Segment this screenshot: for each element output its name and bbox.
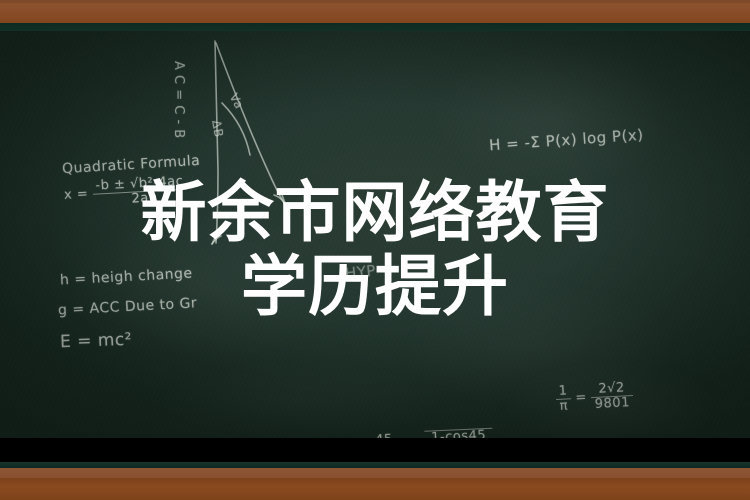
chalk-note-height-change: h = heigh change [60,266,193,289]
chalk-pi-rhs-numerator: 2√2 [591,381,633,398]
chalk-tan-radicand: 1-cos45 1+cos45 [425,429,493,438]
chalk-smudge [430,41,680,191]
chalk-note-entropy: H = -Σ P(x) log P(x) [489,126,645,155]
chalk-quadratic-fraction: -b ± √b²-4ac 2a [92,175,187,208]
triangle-diagram-icon [0,31,750,438]
chalk-smudge [150,361,450,438]
chalk-tan-fraction: 45 2 [372,433,397,438]
chalk-pi-rhs-fraction: 2√2 9801 [591,381,634,411]
chalk-pi-lhs-numerator: 1 [555,384,571,399]
frame-bottom-wood [0,478,750,500]
chalk-note-triangle-side-c: A C = C - B [171,61,186,139]
chalk-smudge [60,211,360,361]
chalk-quadratic-numerator: -b ± √b²-4ac [92,175,187,195]
chalk-note-ramanujan-series: ∞ Σ k=0 (4k)!(110)+26390k (k!)⁴396⁴ᵏ tan… [59,430,335,438]
chalk-smudge [500,361,720,438]
chalk-pi-equals: = [575,390,587,406]
frame-top-highlight [0,0,750,3]
chalk-note-triangle-label-b: ΔB [209,119,226,139]
chalk-note-gravity: g = ACC Due to Gr [58,295,198,318]
chalk-quadratic-denominator: 2a [93,189,188,208]
chalk-note-tan-half-angle: tan 45 2 = √ 1-cos45 1+cos45 [344,428,493,438]
chalk-tan-numerator: 45 [372,433,396,438]
chalk-note-mass-energy: E = mc² [60,330,133,353]
board-lip-top [0,23,750,31]
chalk-note-quadratic-equation: x = -b ± √b²-4ac 2a [63,175,187,210]
chalk-note-quadratic-label: Quadratic Formula [62,153,201,177]
frame-top-wood [0,0,750,23]
chalk-pi-lhs-denominator: π [556,399,571,413]
chalk-note-hypotenuse: HYP [344,261,377,282]
chalkboard-banner: Quadratic Formula x = -b ± √b²-4ac 2a h … [0,0,750,500]
chalk-note-triangle-label-a: Va [227,91,247,111]
chalk-pi-rhs-denominator: 9801 [591,396,633,412]
chalk-smudge [400,281,680,411]
frame-bottom-ledge [0,468,750,478]
chalk-quadratic-lhs: x = [64,187,89,203]
board-vignette [0,31,750,438]
board-texture [0,31,750,438]
chalk-tan-rad-numerator: 1-cos45 [425,429,493,438]
chalk-note-pi-identity: 1 π = 2√2 9801 [555,381,633,413]
chalk-pi-lhs-fraction: 1 π [555,384,571,413]
chalkboard-surface: Quadratic Formula x = -b ± √b²-4ac 2a h … [0,31,750,438]
